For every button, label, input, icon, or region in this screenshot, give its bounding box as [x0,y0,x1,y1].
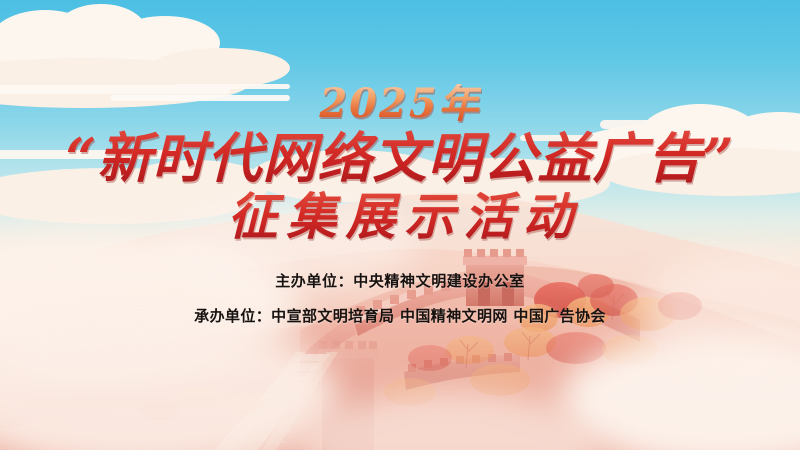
poster-text-block: 2025年 “新时代网络文明公益广告” 征集展示活动 主办单位：中央精神文明建设… [0,0,800,450]
subtitle: 征集展示活动 [219,189,582,244]
host-organization: 主办单位：中央精神文明建设办公室 [275,270,525,291]
year-heading: 2025年 [319,84,480,124]
cohost-organization: 承办单位：中宣部文明培育局 中国精神文明网 中国广告协会 [194,305,606,326]
main-title: “新时代网络文明公益广告” [65,130,734,187]
poster-canvas: 2025年 “新时代网络文明公益广告” 征集展示活动 主办单位：中央精神文明建设… [0,0,800,450]
